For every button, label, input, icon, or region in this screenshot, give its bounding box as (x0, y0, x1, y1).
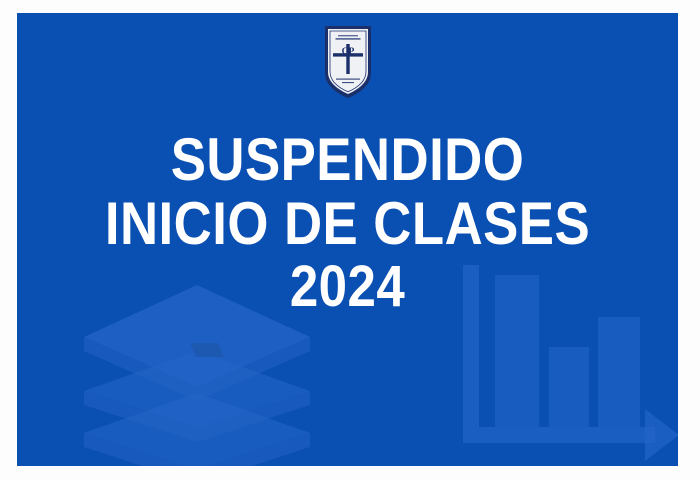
announcement-panel: CP SUSPENDIDO INICIO DE CLASES 2024 (17, 13, 678, 466)
headline-line-inicio-de-clases: INICIO DE CLASES (57, 195, 639, 253)
colegio-crest-icon: CP (324, 25, 372, 99)
crest-container: CP (17, 25, 678, 99)
poster-root: CP SUSPENDIDO INICIO DE CLASES 2024 (0, 0, 700, 480)
headline-line-year: 2024 (57, 259, 639, 315)
headline-block: SUSPENDIDO INICIO DE CLASES 2024 (17, 131, 678, 316)
svg-text:CP: CP (341, 47, 354, 57)
headline-line-suspendido: SUSPENDIDO (57, 131, 639, 189)
